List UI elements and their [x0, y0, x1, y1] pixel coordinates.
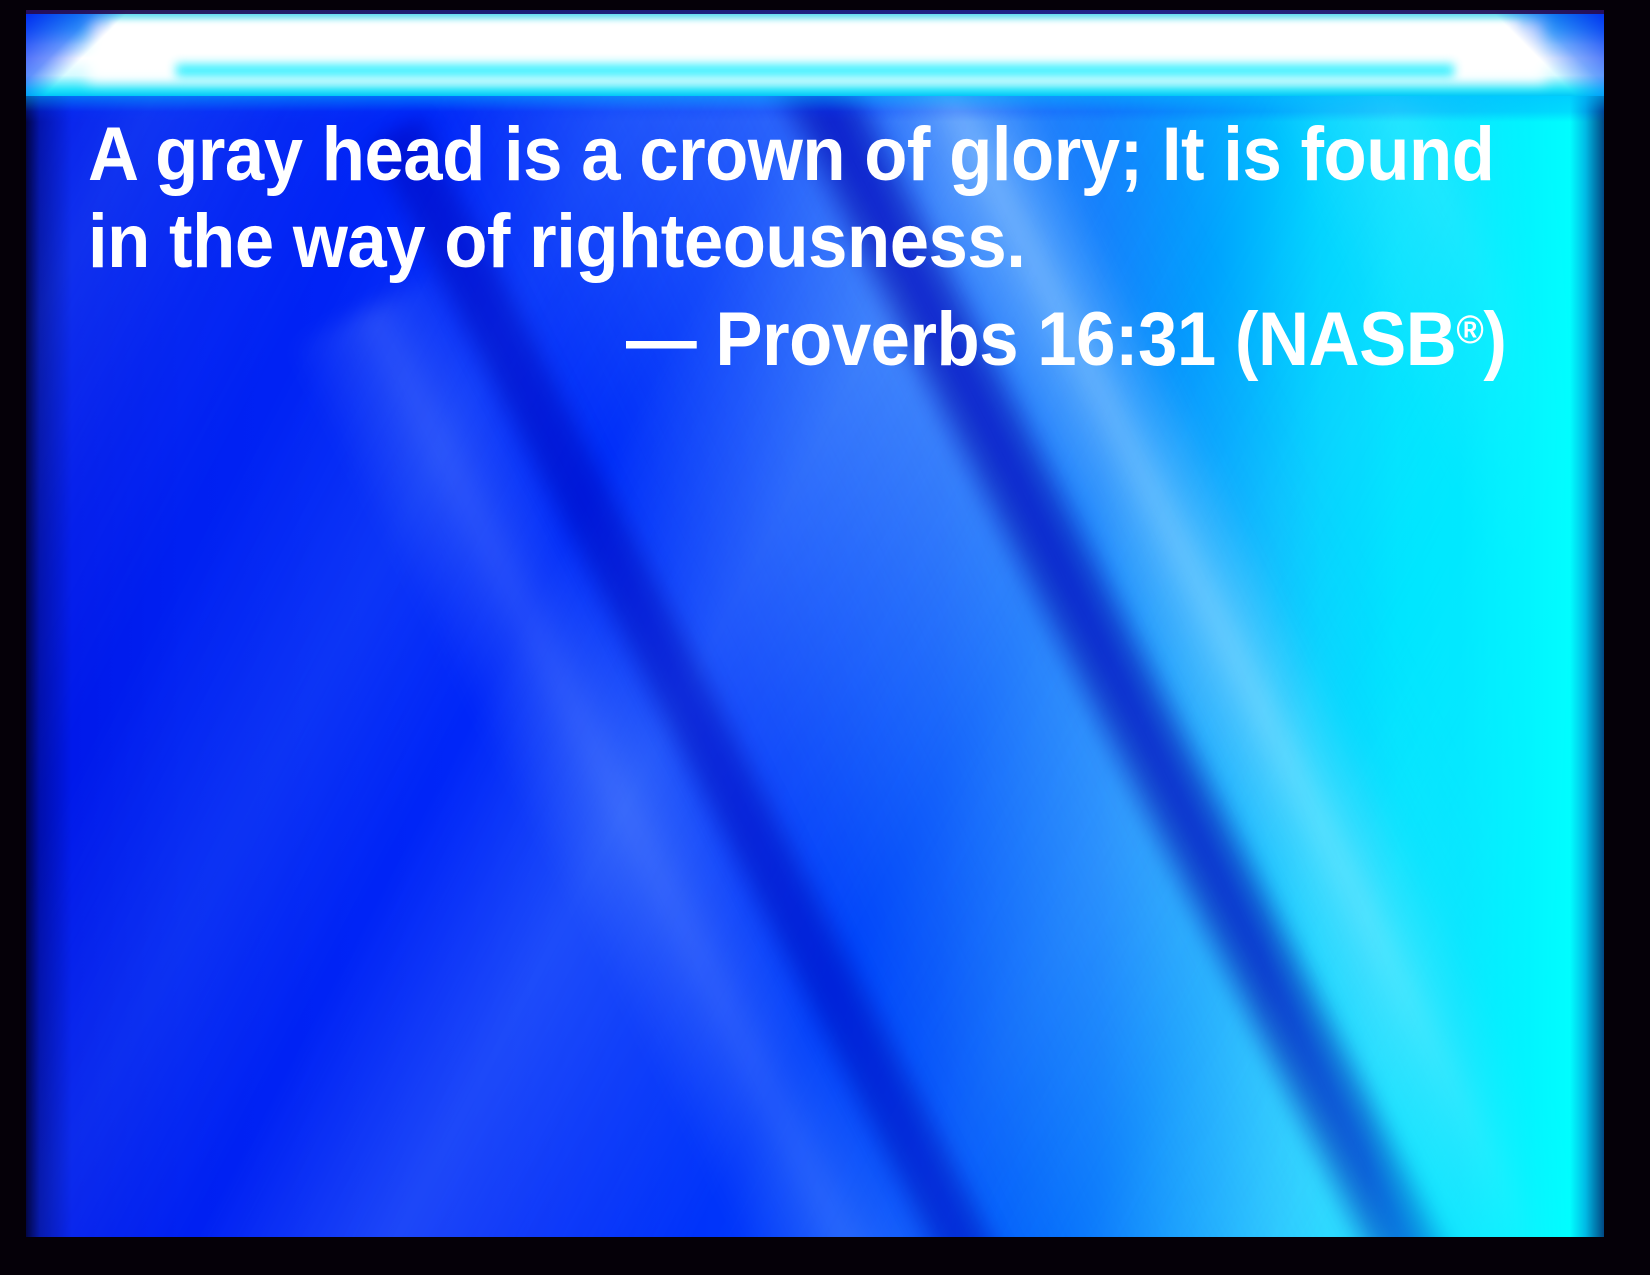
attribution-em-dash: —: [626, 297, 696, 382]
header-left-notch: [26, 10, 126, 96]
header-glow-band: [26, 10, 1604, 96]
header-top-rule: [26, 10, 1604, 14]
header-right-notch: [1494, 10, 1604, 96]
header-cyan-stripe: [176, 64, 1454, 77]
attribution-close-paren: ): [1483, 297, 1506, 382]
slide-content-area: A gray head is a crown of glory; It is f…: [26, 10, 1604, 1237]
slide-canvas: A gray head is a crown of glory; It is f…: [0, 0, 1650, 1275]
verse-line-1: A gray head is a crown of glory; It is f…: [88, 115, 1494, 195]
registered-trademark-icon: ®: [1456, 308, 1483, 352]
attribution-reference: Proverbs 16:31 (NASB: [696, 297, 1456, 382]
header-white-highlight: [110, 22, 1520, 66]
verse-attribution: — Proverbs 16:31 (NASB®): [626, 290, 1506, 380]
verse-line-2: in the way of righteousness.: [88, 202, 1025, 282]
